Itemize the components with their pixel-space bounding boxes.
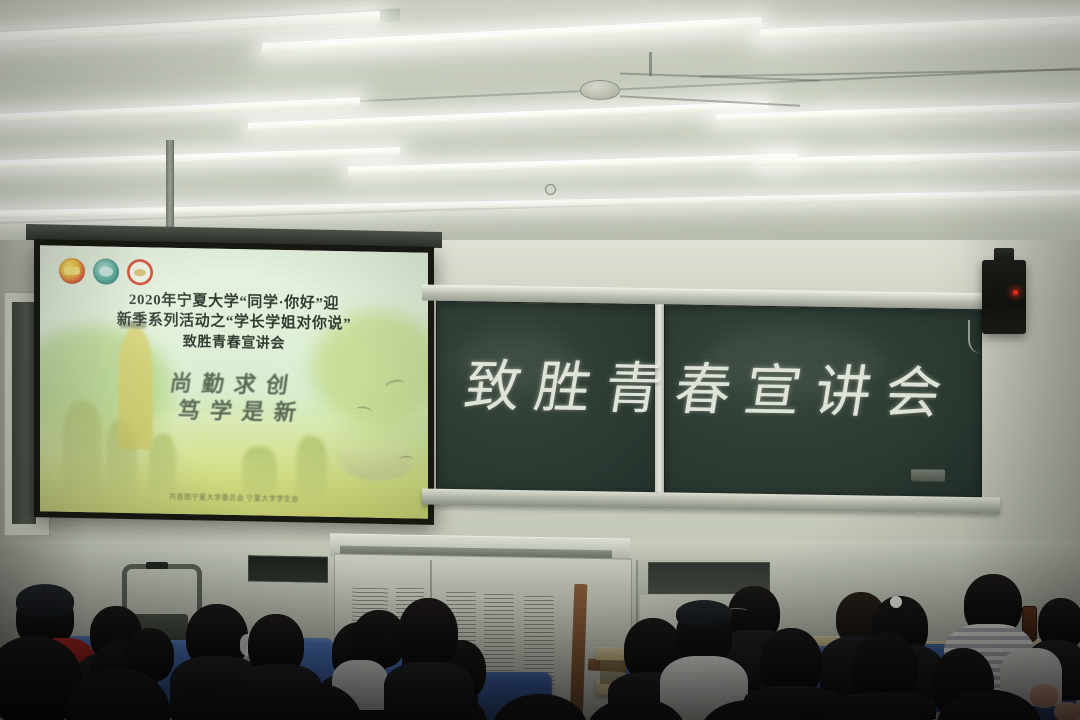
- student-head: [398, 598, 458, 670]
- ceiling-sensor: [545, 184, 556, 195]
- hair-clip: [676, 600, 732, 628]
- projector-mount-pole: [166, 140, 174, 235]
- wall-dark-panel: [12, 302, 36, 524]
- wall-speaker: [982, 260, 1026, 334]
- slide-silhouette: [149, 434, 176, 493]
- student-hand: [1030, 684, 1058, 708]
- ceiling-conduit: [649, 52, 652, 76]
- baseball-cap: [16, 584, 74, 618]
- projected-slide: 2020年宁夏大学“同学·你好”迎 新季系列活动之“学长学姐对你说” 致胜青春宣…: [40, 245, 428, 518]
- slide-silhouette: [242, 446, 277, 495]
- slide-calligraphy-block: 尚勤求创 笃学是新: [40, 368, 428, 429]
- communist-youth-league-emblem-icon: [59, 258, 85, 284]
- cabinet-vent-louvers: [484, 594, 514, 685]
- slide-title-block: 2020年宁夏大学“同学·你好”迎 新季系列活动之“学长学姐对你说” 致胜青春宣…: [40, 288, 428, 357]
- suitcase-grip: [146, 562, 168, 569]
- speaker-power-led-icon: [1013, 290, 1018, 295]
- wall-mounted-monitor: [248, 555, 328, 582]
- speaker-cable: [968, 320, 988, 354]
- hair-tie: [890, 596, 902, 608]
- projection-screen[interactable]: 2020年宁夏大学“同学·你好”迎 新季系列活动之“学长学姐对你说” 致胜青春宣…: [34, 239, 434, 525]
- slide-silhouette: [296, 436, 327, 495]
- teal-circular-logo-icon: [93, 258, 119, 284]
- slide-bird-motif: [399, 456, 414, 464]
- blackboard[interactable]: 致胜青春宣讲会: [436, 301, 984, 525]
- ceiling-air-vent: [580, 80, 620, 100]
- blackboard-eraser[interactable]: [911, 469, 945, 482]
- slide-logo-row: [59, 258, 153, 286]
- student-hand: [1054, 702, 1080, 720]
- lecture-hall-photo: 2020年宁夏大学“同学·你好”迎 新季系列活动之“学长学姐对你说” 致胜青春宣…: [0, 0, 1080, 720]
- blackboard-chalk-text: 致胜青春宣讲会: [426, 327, 993, 455]
- red-ring-logo-icon: [127, 259, 153, 285]
